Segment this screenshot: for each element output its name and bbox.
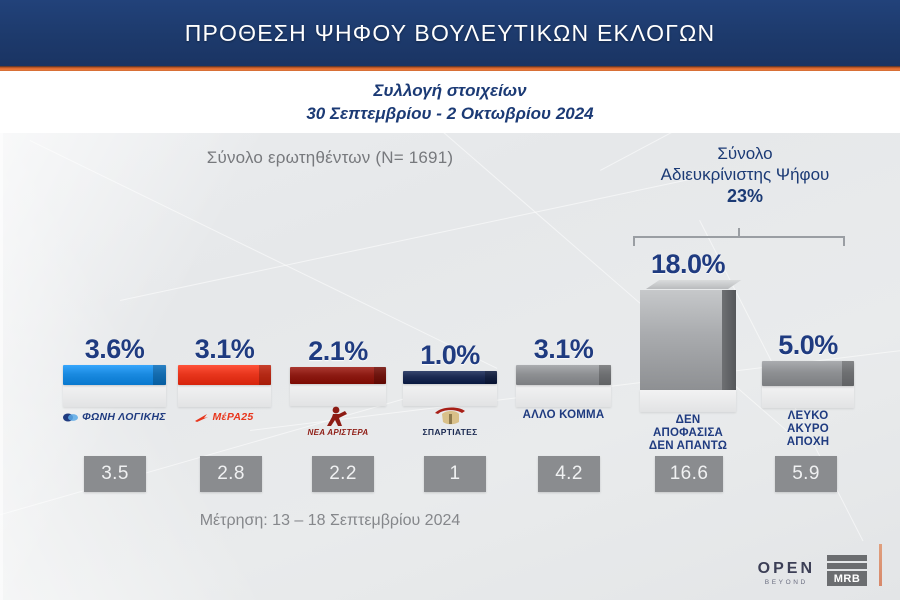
bar-fill-lefko-akyro-apoxi	[762, 361, 854, 386]
undecided-total-value: 23%	[600, 186, 890, 207]
bar-side-face	[722, 290, 736, 390]
previous-measurement-label: Μέτρηση: 13 – 18 Σεπτεμβρίου 2024	[0, 512, 660, 530]
bar-shell-allo-komma	[516, 365, 611, 407]
party-logo-text: ΝΕΑ ΑΡΙΣΤΕΡΑ	[308, 428, 369, 437]
undecided-bracket	[633, 228, 845, 244]
bar-fill-foni-logikis	[63, 365, 166, 385]
party-logo-mera25: ΜέΡΑ25	[178, 407, 271, 427]
party-logo-nea-aristera: ΝΕΑ ΑΡΙΣΤΕΡΑ	[290, 406, 386, 437]
party-logo-text: ΦΩΝΗ ΛΟΓΙΚΗΣ	[82, 411, 166, 423]
bar-value-spartiates: 1.0%	[403, 340, 497, 371]
helmet-mark-icon	[432, 406, 468, 427]
brand-divider	[879, 544, 882, 586]
bar-value-nea-aristera: 2.1%	[290, 336, 386, 367]
subtitle-line-1: Συλλογή στοιχείων	[373, 79, 526, 102]
bar-fill-mera25	[178, 365, 271, 385]
previous-value-nea-aristera: 2.2	[312, 456, 374, 492]
undecided-total-label: Σύνολο Αδιευκρίνιστης Ψήφου 23%	[600, 143, 890, 207]
bar-fill-allo-komma	[516, 365, 611, 385]
mrb-bar-top	[827, 555, 867, 561]
bracket-left-end	[633, 236, 635, 246]
previous-value-lefko-akyro-apoxi: 5.9	[775, 456, 837, 492]
undecided-line-2: Αδιευκρίνιστης Ψήφου	[661, 165, 830, 184]
mrb-bar-mid	[827, 563, 867, 569]
bar-group-spartiates: 1.0%ΣΠΑΡΤΙΑΤΕΣ	[403, 340, 497, 439]
bar-label-allo-komma: ΑΛΛΟ ΚΟΜΜΑ	[516, 409, 611, 422]
previous-value-den-apofasisa: 16.6	[655, 456, 723, 492]
bar-group-foni-logikis: 3.6%ΦΩΝΗ ΛΟΓΙΚΗΣ	[63, 334, 166, 429]
oval-mark-icon	[63, 412, 79, 423]
bar-base-plate	[178, 385, 271, 407]
open-logo-sub: BEYOND	[758, 579, 815, 586]
title-banner: ΠΡΟΘΕΣΗ ΨΗΦΟΥ ΒΟΥΛΕΥΤΙΚΩΝ ΕΚΛΟΓΩΝ	[0, 0, 900, 66]
bar-group-allo-komma: 3.1%ΑΛΛΟ ΚΟΜΜΑ	[516, 334, 611, 422]
bar-group-mera25: 3.1%ΜέΡΑ25	[178, 334, 271, 429]
previous-value-allo-komma: 4.2	[538, 456, 600, 492]
previous-value-foni-logikis: 3.5	[84, 456, 146, 492]
party-logo-foni-logikis: ΦΩΝΗ ΛΟΓΙΚΗΣ	[63, 407, 166, 427]
bar-base-plate	[516, 385, 611, 407]
bar-label-lefko-akyro-apoxi: ΛΕΥΚΟ ΑΚΥΡΟ ΑΠΟΧΗ	[762, 410, 854, 449]
bar-front-face	[640, 290, 722, 390]
party-logo-spartiates: ΣΠΑΡΤΙΑΤΕΣ	[403, 406, 497, 437]
bar-base-plate	[290, 384, 386, 406]
subtitle-line-2: 30 Σεπτεμβρίου - 2 Οκτωβρίου 2024	[306, 102, 593, 125]
bar-shell-lefko-akyro-apoxi	[762, 361, 854, 408]
page-title: ΠΡΟΘΕΣΗ ΨΗΦΟΥ ΒΟΥΛΕΥΤΙΚΩΝ ΕΚΛΟΓΩΝ	[185, 20, 716, 47]
bar-top-face	[646, 280, 741, 289]
mrb-logo-text: MRB	[827, 571, 867, 586]
party-logo-text: ΜέΡΑ25	[212, 411, 253, 423]
bar-value-mera25: 3.1%	[178, 334, 271, 365]
arrow-mark-icon	[195, 412, 209, 423]
bar-label-den-apofasisa: ΔΕΝ ΑΠΟΦΑΣΙΣΑ ΔΕΝ ΑΠΑΝΤΩ	[640, 414, 736, 453]
bar-group-lefko-akyro-apoxi: 5.0%ΛΕΥΚΟ ΑΚΥΡΟ ΑΠΟΧΗ	[762, 330, 854, 449]
bar-base-plate	[63, 385, 166, 407]
figure-mark-icon	[323, 406, 353, 428]
subtitle-block: Συλλογή στοιχείων 30 Σεπτεμβρίου - 2 Οκτ…	[0, 71, 900, 133]
bar-group-den-apofasisa: 18.0%ΔΕΝ ΑΠΟΦΑΣΙΣΑ ΔΕΝ ΑΠΑΝΤΩ	[640, 249, 736, 453]
bar-base-plate	[640, 390, 736, 412]
undecided-line-1: Σύνολο	[717, 144, 772, 163]
bracket-center-tick	[738, 228, 740, 238]
bar-shell-spartiates	[403, 371, 497, 406]
bar-base-plate	[403, 384, 497, 406]
bracket-right-end	[843, 236, 845, 246]
broadcaster-branding: OPEN BEYOND MRB	[758, 544, 882, 586]
bar-shell-den-apofasisa	[640, 280, 736, 412]
bar-shell-foni-logikis	[63, 365, 166, 407]
bar-base-plate	[762, 386, 854, 408]
bar-value-lefko-akyro-apoxi: 5.0%	[762, 330, 854, 361]
poll-graphic: ΠΡΟΘΕΣΗ ΨΗΦΟΥ ΒΟΥΛΕΥΤΙΚΩΝ ΕΚΛΟΓΩΝ Συλλογ…	[0, 0, 900, 600]
mrb-logo: MRB	[827, 555, 867, 586]
previous-value-mera25: 2.8	[200, 456, 262, 492]
bar-fill-nea-aristera	[290, 367, 386, 384]
bar-shell-mera25	[178, 365, 271, 407]
sample-size-label: Σύνολο ερωτηθέντων (Ν= 1691)	[0, 148, 660, 168]
bar-value-den-apofasisa: 18.0%	[640, 249, 736, 280]
bar-value-allo-komma: 3.1%	[516, 334, 611, 365]
bar-fill-spartiates	[403, 371, 497, 384]
open-logo-main: OPEN	[758, 561, 815, 577]
previous-value-spartiates: 1	[424, 456, 486, 492]
bar-value-foni-logikis: 3.6%	[63, 334, 166, 365]
party-logo-text: ΣΠΑΡΤΙΑΤΕΣ	[423, 427, 478, 437]
bar-group-nea-aristera: 2.1%ΝΕΑ ΑΡΙΣΤΕΡΑ	[290, 336, 386, 439]
bar-shell-nea-aristera	[290, 367, 386, 406]
open-beyond-logo: OPEN BEYOND	[758, 561, 815, 586]
